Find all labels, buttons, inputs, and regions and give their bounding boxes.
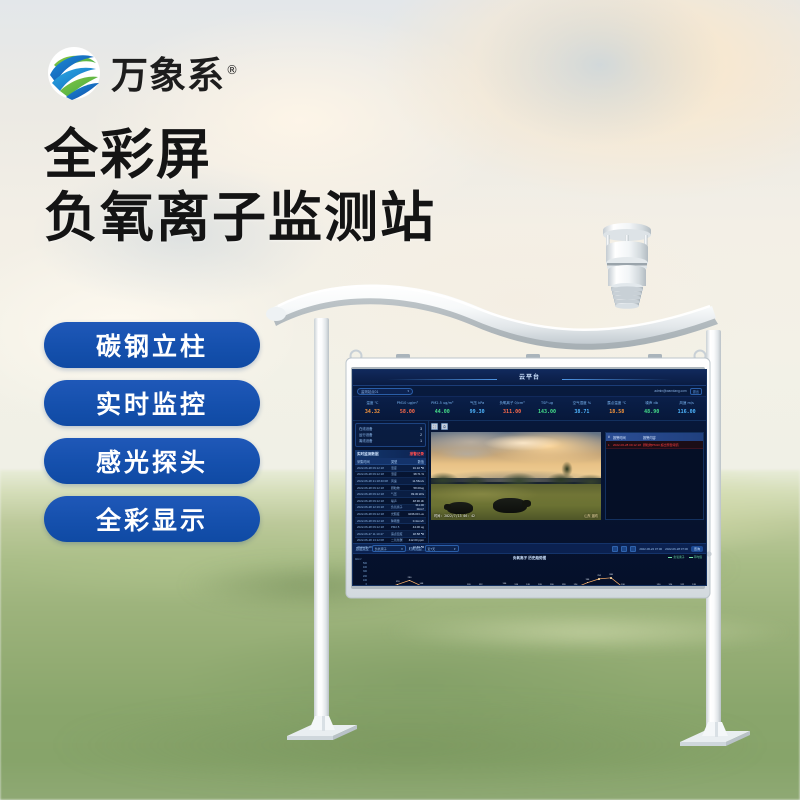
feature-badge-list: 碳钢立柱实时监控感光探头全彩显示: [44, 322, 260, 554]
marketing-overlay: 万象系® 全彩屏 负氧离子监测站 碳钢立柱实时监控感光探头全彩显示: [0, 0, 800, 800]
snapshot-icon[interactable]: ⛭: [441, 423, 448, 430]
fullscreen-icon[interactable]: ⛶: [431, 423, 438, 430]
feature-badge-4[interactable]: 全彩显示: [44, 496, 260, 542]
video-toolbar: ⛶ ⛭: [431, 423, 448, 430]
brand-name: 万象系®: [111, 57, 239, 94]
trademark-symbol: ®: [226, 63, 239, 77]
headline-line-1: 全彩屏: [44, 124, 436, 187]
feature-badge-3[interactable]: 感光探头: [44, 438, 260, 484]
globe-swoosh-icon: [46, 45, 102, 101]
headline-block: 全彩屏 负氧离子监测站: [44, 124, 436, 249]
feature-badge-2[interactable]: 实时监控: [44, 380, 260, 426]
brand-logo: 万象系®: [46, 45, 239, 101]
feature-badge-1[interactable]: 碳钢立柱: [44, 322, 260, 368]
headline-line-2: 负氧离子监测站: [44, 187, 436, 250]
